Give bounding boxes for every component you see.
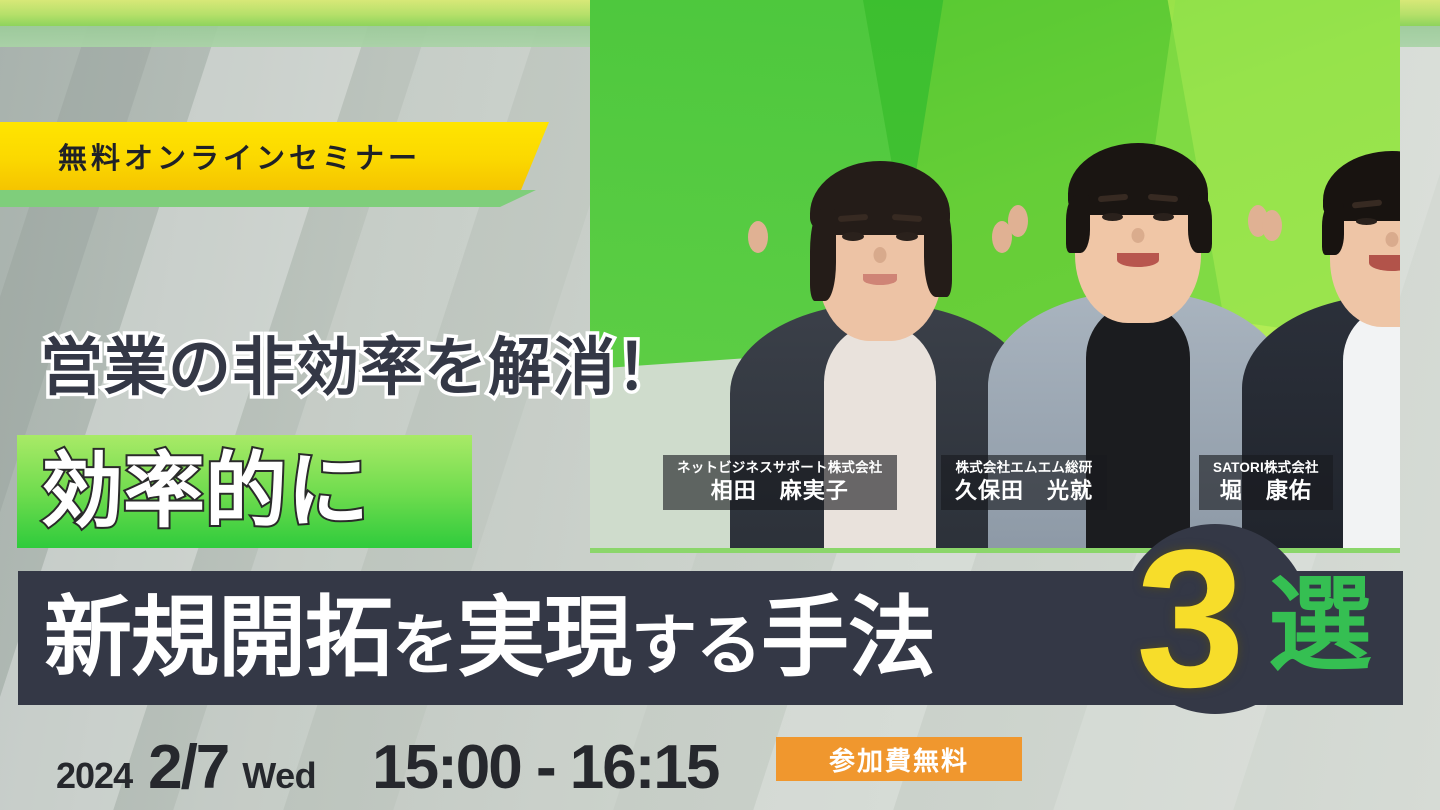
schedule-year: 2024 xyxy=(56,755,132,797)
headline-kana-1: を xyxy=(392,608,457,682)
speaker-company: ネットビジネスサポート株式会社 xyxy=(677,460,883,476)
seminar-banner: ネットビジネスサポート株式会社 相田 麻実子 株式会社エムエム総研 久保田 光就… xyxy=(0,0,1440,810)
headline-count-suffix: 選 xyxy=(1268,574,1372,678)
ribbon-shadow xyxy=(0,190,536,207)
ribbon-label: 無料オンラインセミナー xyxy=(58,135,421,177)
speaker-name: 久保田 光就 xyxy=(955,478,1093,503)
headline-seg-c: 手法 xyxy=(761,588,935,687)
schedule-footer: 2024 2/7 Wed 15:00 - 16:15 xyxy=(0,716,1440,810)
speaker-company: 株式会社エムエム総研 xyxy=(955,460,1093,476)
free-admission-badge: 参加費無料 xyxy=(776,737,1022,781)
headline-seg-a: 新規開拓 xyxy=(44,588,392,687)
speaker-name: 相田 麻実子 xyxy=(677,478,883,503)
ribbon-body: 無料オンラインセミナー xyxy=(0,122,549,190)
free-seminar-ribbon: 無料オンラインセミナー xyxy=(0,122,549,190)
speaker-nameplate-2: 株式会社エムエム総研 久保田 光就 xyxy=(941,455,1107,510)
speaker-company: SATORI株式会社 xyxy=(1213,460,1319,476)
headline-green-band: 効率的に xyxy=(17,435,472,548)
schedule-time: 15:00 - 16:15 xyxy=(372,732,718,803)
headline-line-2: 効率的に xyxy=(41,451,369,533)
schedule-row: 2024 2/7 Wed 15:00 - 16:15 xyxy=(56,732,718,803)
schedule-date: 2/7 xyxy=(148,732,228,803)
headline-line-1: 営業の非効率を解消！ xyxy=(40,337,680,400)
speaker-nameplate-1: ネットビジネスサポート株式会社 相田 麻実子 xyxy=(663,455,897,510)
headline-seg-b: 実現 xyxy=(457,588,631,687)
speaker-nameplate-3: SATORI株式会社 堀 康佑 xyxy=(1199,455,1333,510)
speaker-name: 堀 康佑 xyxy=(1213,478,1319,503)
headline-line-3: 新規開拓を実現する手法 xyxy=(44,594,935,682)
headline-count-number: 3 xyxy=(1136,521,1241,717)
headline-kana-2: する xyxy=(631,608,761,682)
schedule-day-of-week: Wed xyxy=(242,755,316,797)
